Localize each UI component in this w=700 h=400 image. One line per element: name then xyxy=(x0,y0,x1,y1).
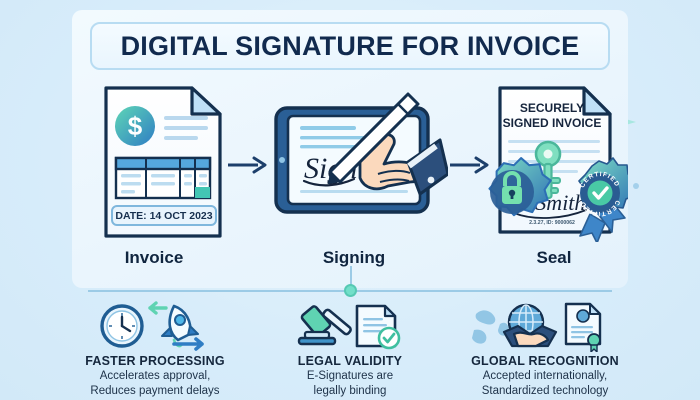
arrow-invoice-to-signing xyxy=(228,156,268,179)
divider-stem xyxy=(350,266,352,286)
clock-icon xyxy=(102,306,142,346)
step-label-seal: Seal xyxy=(479,248,629,268)
benefit-title-legal-validity: LEGAL VALIDITY xyxy=(250,354,450,368)
gavel-icon xyxy=(299,305,352,344)
title-banner: DIGITAL SIGNATURE FOR INVOICE xyxy=(90,22,610,70)
benefit-sub1-faster-processing: Accelerates approval, xyxy=(55,369,255,383)
invoice-date-badge: DATE: 14 OCT 2023 xyxy=(112,206,216,225)
page-title: DIGITAL SIGNATURE FOR INVOICE xyxy=(121,31,580,62)
benefit-faster-processing[interactable]: FASTER PROCESSING Accelerates approval, … xyxy=(55,300,255,398)
invoice-date-text: DATE: 14 OCT 2023 xyxy=(115,210,212,222)
benefit-legal-validity[interactable]: LEGAL VALIDITY E-Signatures are legally … xyxy=(250,300,450,398)
benefit-sub1-legal-validity: E-Signatures are xyxy=(250,369,450,383)
rocket-icon xyxy=(162,306,198,346)
step-label-invoice: Invoice xyxy=(79,248,229,268)
benefit-sub2-global-recognition: Standardized technology xyxy=(445,384,645,398)
arrow-left-icon xyxy=(150,303,166,313)
currency-symbol: $ xyxy=(128,111,143,141)
step-invoice[interactable]: $ xyxy=(88,82,238,242)
benefit-icons-legal-validity xyxy=(250,300,450,352)
sealed-document-icon: SECURELY SIGNED INVOICE J. Smith 2.3.27,… xyxy=(478,82,628,242)
seal-heading-line-1: SECURELY xyxy=(520,101,584,115)
certificate-icon xyxy=(566,304,600,352)
invoice-document-icon: $ xyxy=(88,82,238,242)
benefit-sub2-legal-validity: legally binding xyxy=(250,384,450,398)
step-label-signing: Signing xyxy=(279,248,429,268)
benefit-title-global-recognition: GLOBAL RECOGNITION xyxy=(445,354,645,368)
benefit-icons-global-recognition xyxy=(445,300,645,352)
benefit-title-faster-processing: FASTER PROCESSING xyxy=(55,354,255,368)
benefit-icons-faster-processing xyxy=(55,300,255,352)
step-seal[interactable]: SECURELY SIGNED INVOICE J. Smith 2.3.27,… xyxy=(478,82,628,242)
tablet-hand-pen-icon: Sign xyxy=(268,82,448,242)
document-check-icon xyxy=(357,306,399,348)
benefit-sub1-global-recognition: Accepted internationally, xyxy=(445,369,645,383)
step-signing[interactable]: Sign xyxy=(268,82,448,242)
seal-heading-line-2: SIGNED INVOICE xyxy=(503,116,602,130)
benefit-global-recognition[interactable]: GLOBAL RECOGNITION Accepted internationa… xyxy=(445,300,645,398)
infographic-root: DIGITAL SIGNATURE FOR INVOICE $ xyxy=(0,0,700,400)
world-map-icon xyxy=(472,310,509,343)
divider-node xyxy=(344,284,357,297)
invoice-table xyxy=(116,158,210,198)
seal-meta-text: 2.3.27, ID: 9000062 xyxy=(529,220,575,226)
benefit-sub2-faster-processing: Reduces payment delays xyxy=(55,384,255,398)
